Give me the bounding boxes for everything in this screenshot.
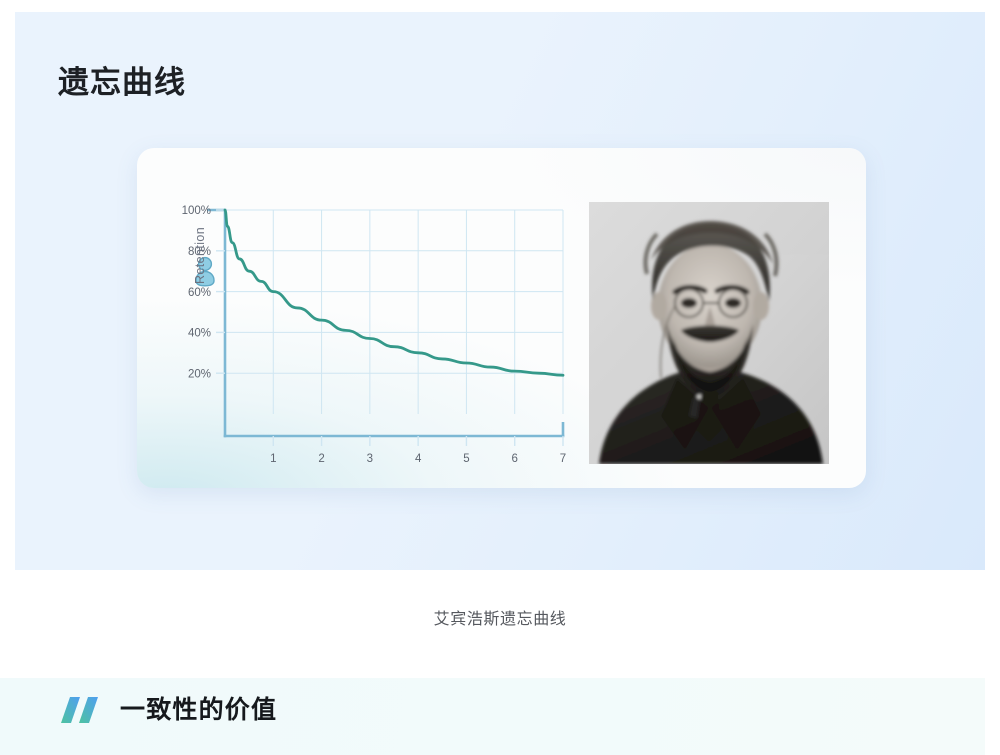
page-title: 遗忘曲线 xyxy=(58,64,186,101)
ebbinghaus-portrait xyxy=(589,202,829,464)
svg-text:6: 6 xyxy=(512,453,518,465)
slide-page: 遗忘曲线 20%40%60%80%100%1234567 Retention D… xyxy=(0,0,1000,755)
slash-mark-icon xyxy=(58,695,104,725)
svg-text:100%: 100% xyxy=(182,205,211,217)
svg-text:1: 1 xyxy=(270,453,276,465)
chart-svg: 20%40%60%80%100%1234567 xyxy=(159,192,579,472)
svg-text:2: 2 xyxy=(318,453,324,465)
hero-section: 遗忘曲线 20%40%60%80%100%1234567 Retention D… xyxy=(15,12,985,570)
chart-card: 20%40%60%80%100%1234567 Retention Days xyxy=(137,148,866,488)
svg-text:7: 7 xyxy=(560,453,566,465)
svg-text:40%: 40% xyxy=(188,328,211,340)
y-axis-label: Retention xyxy=(193,227,207,284)
bottom-section: 一致性的价值 xyxy=(0,678,985,755)
section-heading: 一致性的价值 xyxy=(58,695,277,725)
svg-text:4: 4 xyxy=(415,453,422,465)
forgetting-curve-chart: 20%40%60%80%100%1234567 Retention Days xyxy=(159,192,579,472)
figure-caption: 艾宾浩斯遗忘曲线 xyxy=(0,605,1000,629)
svg-text:5: 5 xyxy=(463,453,469,465)
svg-text:20%: 20% xyxy=(188,368,211,380)
section-heading-text: 一致性的价值 xyxy=(120,698,277,723)
svg-text:3: 3 xyxy=(367,453,373,465)
